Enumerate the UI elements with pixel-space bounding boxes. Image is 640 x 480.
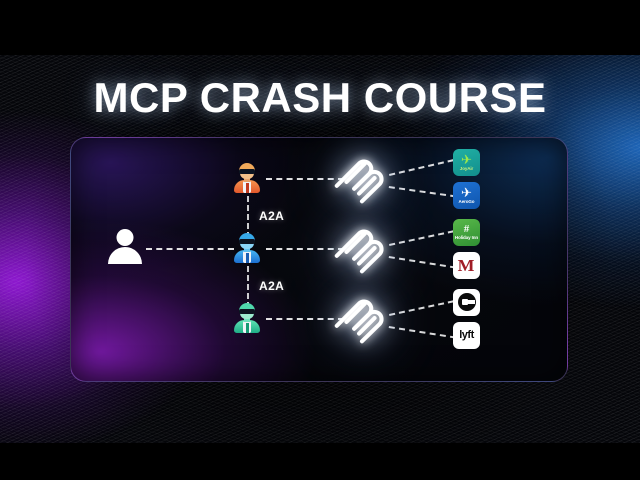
app-lyft-node[interactable]: lyft bbox=[453, 322, 480, 349]
app-aerogo-label: AeroGo bbox=[459, 200, 475, 205]
thumbnail-stage: MCP CRASH COURSE A2A A2A bbox=[0, 0, 640, 480]
link-mcp-flights-to-aerogo bbox=[389, 186, 457, 197]
m-monogram-icon: M bbox=[458, 257, 475, 274]
user-node[interactable] bbox=[105, 228, 145, 268]
mcp-logo-icon bbox=[330, 219, 392, 281]
agent-sunglasses-icon bbox=[239, 169, 255, 174]
a2a-label-top: A2A bbox=[259, 209, 284, 223]
mcp-logo-icon bbox=[330, 289, 392, 351]
agent-avatar-icon bbox=[232, 303, 262, 333]
uber-mark-bar bbox=[466, 300, 475, 304]
airplane-icon: ✈ bbox=[461, 153, 472, 166]
a2a-label-bottom: A2A bbox=[259, 279, 284, 293]
user-head-shape bbox=[117, 229, 134, 246]
lyft-wordmark-label: lyft bbox=[459, 330, 474, 341]
agent-avatar-icon bbox=[232, 163, 262, 193]
user-body-shape bbox=[108, 247, 142, 264]
app-holidayinn-node[interactable]: # Holiday Inn bbox=[453, 219, 480, 246]
diagram-canvas: A2A A2A bbox=[71, 138, 567, 381]
mcp-server-flights-node[interactable] bbox=[330, 149, 392, 211]
agent-avatar-icon bbox=[232, 233, 262, 263]
airplane-icon: ✈ bbox=[461, 186, 472, 199]
link-a2a-bottom bbox=[247, 266, 249, 308]
app-joyair-icon: ✈ JoyAir bbox=[453, 149, 480, 176]
link-mcp-hotels-to-holidayinn bbox=[389, 230, 454, 246]
link-mcp-rides-to-lyft bbox=[389, 326, 456, 339]
app-uber-icon bbox=[453, 289, 480, 316]
app-lyft-icon: lyft bbox=[453, 322, 480, 349]
agent-tie-shape bbox=[246, 183, 249, 193]
user-silhouette-icon bbox=[105, 228, 145, 268]
app-aerogo-node[interactable]: ✈ AeroGo bbox=[453, 182, 480, 209]
letterbox-bar-top bbox=[0, 0, 640, 55]
mcp-server-hotels-node[interactable] bbox=[330, 219, 392, 281]
agent-tie-shape bbox=[246, 253, 249, 263]
hi-monogram-icon: # bbox=[464, 224, 470, 235]
app-joyair-node[interactable]: ✈ JoyAir bbox=[453, 149, 480, 176]
app-holidayinn-icon: # Holiday Inn bbox=[453, 219, 480, 246]
app-marriott-node[interactable]: M bbox=[453, 252, 480, 279]
mcp-server-rides-node[interactable] bbox=[330, 289, 392, 351]
link-mcp-hotels-to-marriott bbox=[389, 256, 456, 269]
app-marriott-icon: M bbox=[453, 252, 480, 279]
app-aerogo-icon: ✈ AeroGo bbox=[453, 182, 480, 209]
page-title: MCP CRASH COURSE bbox=[0, 74, 640, 122]
agent-rides-node[interactable] bbox=[232, 303, 262, 333]
agent-tie-shape bbox=[246, 323, 249, 333]
uber-mark-icon bbox=[458, 293, 476, 311]
agent-sunglasses-icon bbox=[239, 239, 255, 244]
agent-hotels-node[interactable] bbox=[232, 233, 262, 263]
link-mcp-flights-to-joyair bbox=[389, 159, 454, 176]
diagram-panel: A2A A2A bbox=[70, 137, 568, 382]
link-user-to-agent-hotels bbox=[146, 248, 234, 250]
app-joyair-label: JoyAir bbox=[460, 167, 473, 172]
app-holidayinn-label: Holiday Inn bbox=[455, 236, 478, 241]
agent-sunglasses-icon bbox=[239, 309, 255, 314]
link-mcp-rides-to-uber bbox=[389, 300, 454, 316]
mcp-logo-icon bbox=[330, 149, 392, 211]
link-a2a-top bbox=[247, 196, 249, 238]
letterbox-bar-bottom bbox=[0, 443, 640, 480]
agent-flights-node[interactable] bbox=[232, 163, 262, 193]
app-uber-node[interactable] bbox=[453, 289, 480, 316]
